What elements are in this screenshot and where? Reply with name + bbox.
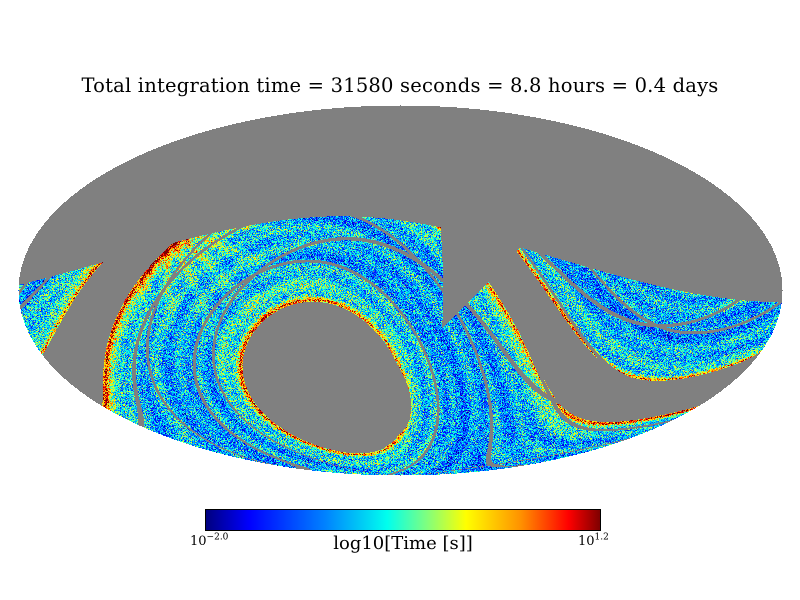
colorbar bbox=[205, 509, 601, 531]
colorbar-gradient bbox=[205, 509, 601, 531]
colorbar-axis-label: log10[Time [s]] bbox=[205, 533, 601, 554]
page-title: Total integration time = 31580 seconds =… bbox=[0, 74, 800, 97]
sky-map-figure: Total integration time = 31580 seconds =… bbox=[0, 0, 800, 600]
